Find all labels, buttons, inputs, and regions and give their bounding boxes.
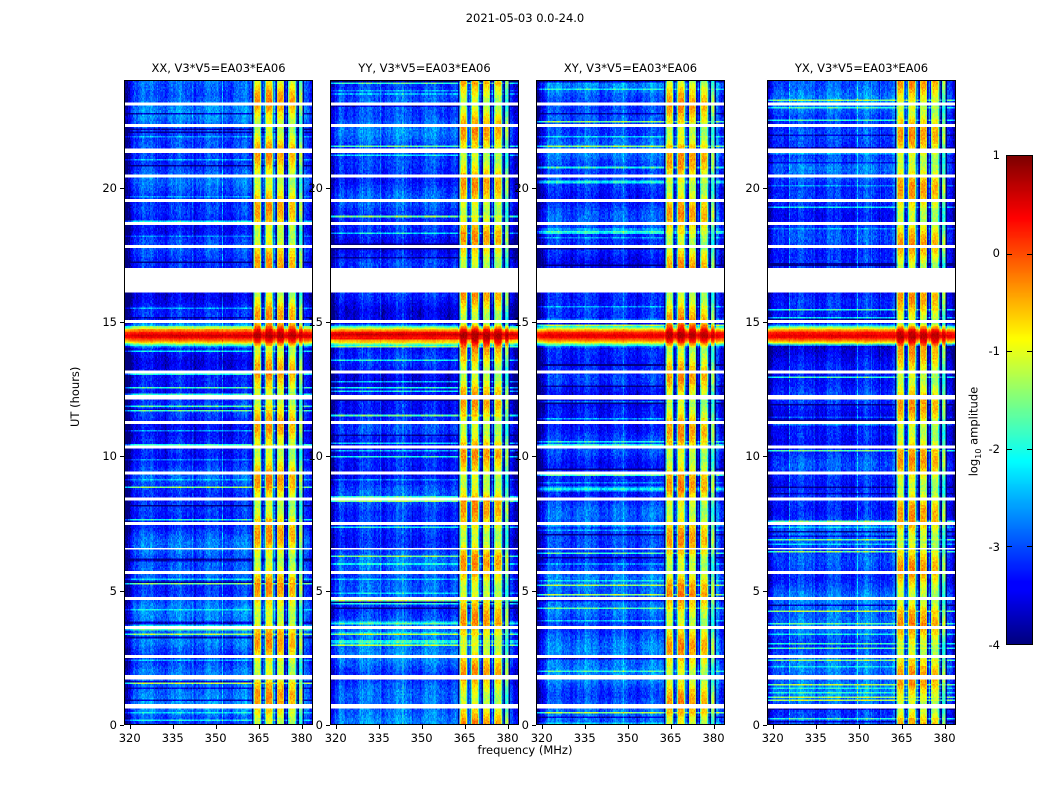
- colorbar-label-main: log: [967, 459, 981, 477]
- y-tick-mark: [120, 591, 124, 592]
- x-tick-mark: [336, 725, 337, 729]
- colorbar-tick-label: -4: [989, 638, 1006, 652]
- x-tick-mark: [714, 725, 715, 729]
- y-tick-mark: [326, 725, 330, 726]
- waterfall-image: [767, 80, 956, 725]
- panel-title: YX, V3*V5=EA03*EA06: [767, 61, 956, 80]
- y-tick-mark: [326, 322, 330, 323]
- figure-suptitle: 2021-05-03 0.0-24.0: [0, 11, 1050, 25]
- panel-title: XY, V3*V5=EA03*EA06: [536, 61, 725, 80]
- x-tick-mark: [671, 725, 672, 729]
- y-tick-mark: [326, 456, 330, 457]
- y-axis-label: UT (hours): [68, 367, 82, 427]
- colorbar-tick-label: -1: [989, 344, 1006, 358]
- y-tick-mark: [120, 188, 124, 189]
- y-tick-mark: [763, 188, 767, 189]
- waterfall-image: [330, 80, 519, 725]
- colorbar-label-sub: 10: [974, 449, 983, 459]
- x-tick-mark: [859, 725, 860, 729]
- waterfall-image: [536, 80, 725, 725]
- y-tick-mark: [532, 591, 536, 592]
- colorbar-tick-mark: [1007, 254, 1012, 255]
- colorbar-tick-label: 0: [993, 246, 1006, 260]
- x-axis-label: frequency (MHz): [0, 743, 1050, 757]
- x-tick-mark: [902, 725, 903, 729]
- waterfall-image: [124, 80, 313, 725]
- colorbar-tick-mark: [1027, 546, 1032, 547]
- colorbar-tick-label: -2: [989, 442, 1006, 456]
- colorbar[interactable]: 10-1-2-3-4: [1006, 155, 1033, 645]
- colorbar-label-tail: amplitude: [967, 387, 981, 449]
- colorbar-tick-mark: [1007, 351, 1012, 352]
- colorbar-tick-label: 1: [993, 148, 1006, 162]
- colorbar-tick-label: -3: [989, 540, 1006, 554]
- y-tick-mark: [532, 188, 536, 189]
- y-tick-mark: [120, 322, 124, 323]
- x-tick-mark: [216, 725, 217, 729]
- x-tick-mark: [422, 725, 423, 729]
- y-tick-mark: [120, 456, 124, 457]
- x-tick-mark: [945, 725, 946, 729]
- y-tick-mark: [532, 725, 536, 726]
- y-tick-mark: [763, 725, 767, 726]
- x-tick-mark: [542, 725, 543, 729]
- y-tick-mark: [326, 188, 330, 189]
- y-tick-mark: [532, 322, 536, 323]
- x-tick-mark: [508, 725, 509, 729]
- colorbar-tick-mark: [1007, 449, 1012, 450]
- x-tick-mark: [379, 725, 380, 729]
- x-tick-mark: [773, 725, 774, 729]
- x-tick-mark: [259, 725, 260, 729]
- panel-xx[interactable]: XX, V3*V5=EA03*EA06320335350365380051015…: [124, 80, 313, 725]
- colorbar-tick-mark: [1007, 546, 1012, 547]
- y-tick-mark: [763, 322, 767, 323]
- x-tick-mark: [628, 725, 629, 729]
- panel-title: XX, V3*V5=EA03*EA06: [124, 61, 313, 80]
- x-tick-mark: [585, 725, 586, 729]
- y-tick-mark: [532, 456, 536, 457]
- panel-xy[interactable]: XY, V3*V5=EA03*EA06320335350365380051015…: [536, 80, 725, 725]
- y-tick-mark: [120, 725, 124, 726]
- y-tick-mark: [763, 591, 767, 592]
- x-tick-mark: [816, 725, 817, 729]
- colorbar-tick-mark: [1027, 351, 1032, 352]
- figure-canvas: 2021-05-03 0.0-24.0 UT (hours) frequency…: [0, 0, 1050, 800]
- x-tick-mark: [302, 725, 303, 729]
- x-tick-mark: [173, 725, 174, 729]
- colorbar-tick-mark: [1027, 254, 1032, 255]
- colorbar-gradient: [1006, 155, 1033, 645]
- y-tick-mark: [326, 591, 330, 592]
- panel-yy[interactable]: YY, V3*V5=EA03*EA06320335350365380051015…: [330, 80, 519, 725]
- colorbar-label: log10 amplitude: [967, 387, 983, 477]
- x-tick-mark: [130, 725, 131, 729]
- panel-title: YY, V3*V5=EA03*EA06: [330, 61, 519, 80]
- panel-yx[interactable]: YX, V3*V5=EA03*EA06320335350365380051015…: [767, 80, 956, 725]
- y-tick-mark: [763, 456, 767, 457]
- x-tick-mark: [465, 725, 466, 729]
- colorbar-tick-mark: [1027, 449, 1032, 450]
